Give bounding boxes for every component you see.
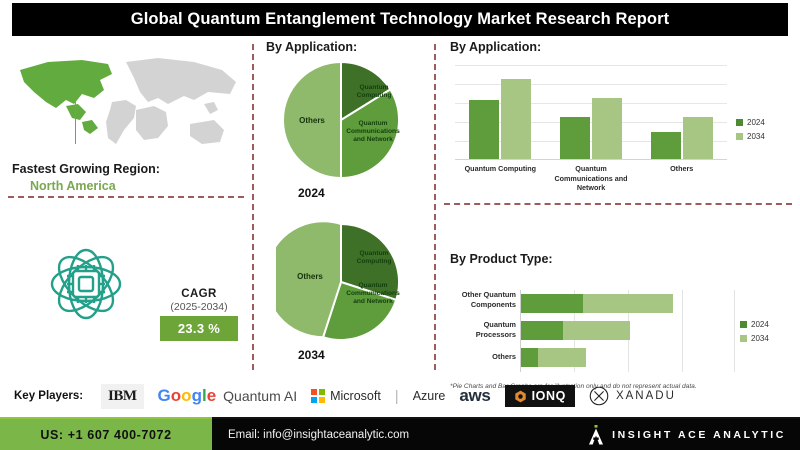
- pie-year-2034: 2034: [298, 348, 325, 362]
- microsoft-squares-icon: [311, 389, 325, 403]
- hbar-segment-2034: [538, 348, 586, 367]
- cagr-years: (2025-2034): [160, 301, 238, 313]
- world-map-icon: [8, 48, 243, 156]
- hbar-other-quantum-components: [521, 294, 673, 313]
- footer-phone-block[interactable]: US: +1 607 400-7072: [0, 419, 212, 450]
- product-chart-legend: 2024 2034: [740, 320, 769, 348]
- pie-slice-label-others: Others: [290, 272, 330, 282]
- legend-swatch-2024: [740, 321, 747, 328]
- bar-2024: [651, 132, 681, 159]
- bar-group-quantum-computing: [455, 65, 546, 159]
- hbar-segment-2024: [521, 321, 563, 340]
- ibm-logo[interactable]: IBM: [101, 384, 144, 409]
- footer-contact-block: Email: info@insightaceanalytic.com INSIG…: [212, 419, 800, 450]
- bar-2024: [560, 117, 590, 159]
- pie-slice-label-quantum-communications: Quantum Communications and Network: [346, 120, 400, 144]
- insight-ace-a-mark: [588, 425, 604, 445]
- region-panel: Fastest Growing Region: North America CA…: [0, 40, 248, 370]
- grouped-bar-chart: [455, 65, 727, 160]
- bar-section-heading: By Application:: [450, 40, 541, 54]
- microsoft-label: Microsoft: [330, 389, 381, 403]
- legend-swatch-2024: [736, 119, 743, 126]
- google-quantum-ai-logo[interactable]: Google Quantum AI: [158, 386, 298, 406]
- cagr-title: CAGR: [160, 288, 238, 300]
- hbar-quantum-processors: [521, 321, 630, 340]
- xanadu-logo[interactable]: XANADU: [589, 386, 676, 406]
- bar-2024: [469, 100, 499, 159]
- ionq-hexagon-icon: [514, 390, 527, 403]
- bar-chart-legend: 2024 2034: [736, 118, 765, 146]
- pie-section-heading: By Application:: [266, 40, 357, 54]
- cagr-card: CAGR (2025-2034) 23.3 %: [160, 288, 238, 341]
- ibm-logo-text: IBM: [101, 384, 144, 409]
- footer-email[interactable]: Email: info@insightaceanalytic.com: [228, 429, 409, 441]
- cagr-value: 23.3 %: [160, 316, 238, 341]
- footer-bar: US: +1 607 400-7072 Email: info@insighta…: [0, 419, 800, 450]
- ionq-logo-text: IONQ: [532, 389, 566, 403]
- bar-group-others: [636, 65, 727, 159]
- legend-label-2024: 2024: [747, 118, 765, 127]
- charts-panel: By Application:: [440, 40, 800, 370]
- google-logo-text: Google: [158, 386, 217, 406]
- pie-slice-label-quantum-communications: Quantum Communications and Network: [346, 282, 400, 306]
- aws-logo[interactable]: aws: [459, 386, 490, 406]
- bar-2034: [501, 79, 531, 159]
- key-players-row: Key Players: IBM Google Quantum AI Micro…: [0, 374, 800, 418]
- hbar-label-others: Others: [444, 352, 516, 362]
- hbar-segment-2024: [521, 294, 583, 313]
- quantum-ai-label: Quantum AI: [223, 388, 297, 404]
- bar-chart-category-labels: Quantum Computing Quantum Communications…: [455, 164, 727, 193]
- pie-slice-label-others: Others: [292, 116, 332, 126]
- hbar-others: [521, 348, 586, 367]
- key-players-label: Key Players:: [14, 390, 83, 402]
- product-section-heading: By Product Type:: [450, 252, 553, 266]
- microsoft-logo[interactable]: Microsoft: [311, 389, 381, 403]
- legend-label-2024: 2024: [751, 320, 769, 329]
- xanadu-x-circle-icon: [589, 386, 609, 406]
- pie-charts-panel: By Application: Quantum Computing Quantu…: [258, 40, 430, 370]
- region-pointer-line: [75, 102, 76, 144]
- pie-chart-2024: Quantum Computing Quantum Communications…: [276, 58, 406, 208]
- key-players-logos: IBM Google Quantum AI Microsoft | Azure …: [101, 384, 676, 409]
- hbar-segment-2024: [521, 348, 538, 367]
- bar-group-quantum-communications: [546, 65, 637, 159]
- legend-label-2034: 2034: [751, 334, 769, 343]
- legend-swatch-2034: [736, 133, 743, 140]
- divider-left-vertical: [252, 44, 254, 370]
- aws-logo-text: aws: [459, 386, 490, 406]
- legend-swatch-2034: [740, 335, 747, 342]
- hbar-segment-2034: [563, 321, 630, 340]
- bar-2034: [592, 98, 622, 159]
- bar-2034: [683, 117, 713, 159]
- ionq-logo[interactable]: IONQ: [505, 385, 575, 407]
- legend-label-2034: 2034: [747, 132, 765, 141]
- footer-brand: INSIGHT ACE ANALYTIC: [588, 425, 786, 445]
- hbar-label-quantum-processors: Quantum Processors: [444, 320, 516, 339]
- report-title-bar: Global Quantum Entanglement Technology M…: [12, 3, 788, 36]
- azure-label: Azure: [413, 389, 446, 403]
- pie-year-2024: 2024: [298, 186, 325, 200]
- category-label: Quantum Computing: [455, 164, 546, 193]
- logo-divider: |: [395, 388, 399, 405]
- divider-right-vertical: [434, 44, 436, 370]
- quantum-atom-chip-icon: [30, 228, 142, 340]
- footer-brand-name: INSIGHT ACE ANALYTIC: [612, 429, 786, 441]
- footer-phone: US: +1 607 400-7072: [40, 428, 171, 442]
- category-label: Others: [636, 164, 727, 193]
- stacked-horizontal-bar-chart: [520, 290, 735, 372]
- hbar-segment-2034: [583, 294, 673, 313]
- xanadu-logo-text: XANADU: [616, 390, 676, 402]
- pie-slice-label-quantum-computing: Quantum Computing: [348, 250, 400, 266]
- fastest-growing-region-value: North America: [30, 179, 116, 193]
- infographic-page: Global Quantum Entanglement Technology M…: [0, 0, 800, 450]
- category-label: Quantum Communications and Network: [546, 164, 637, 193]
- pie-slice-label-quantum-computing: Quantum Computing: [348, 84, 400, 100]
- pie-chart-2034: Quantum Computing Quantum Communications…: [276, 220, 406, 370]
- fastest-growing-region-label: Fastest Growing Region:: [12, 162, 160, 176]
- page-title: Global Quantum Entanglement Technology M…: [131, 10, 669, 29]
- hbar-label-other-quantum-components: Other Quantum Components: [444, 290, 516, 309]
